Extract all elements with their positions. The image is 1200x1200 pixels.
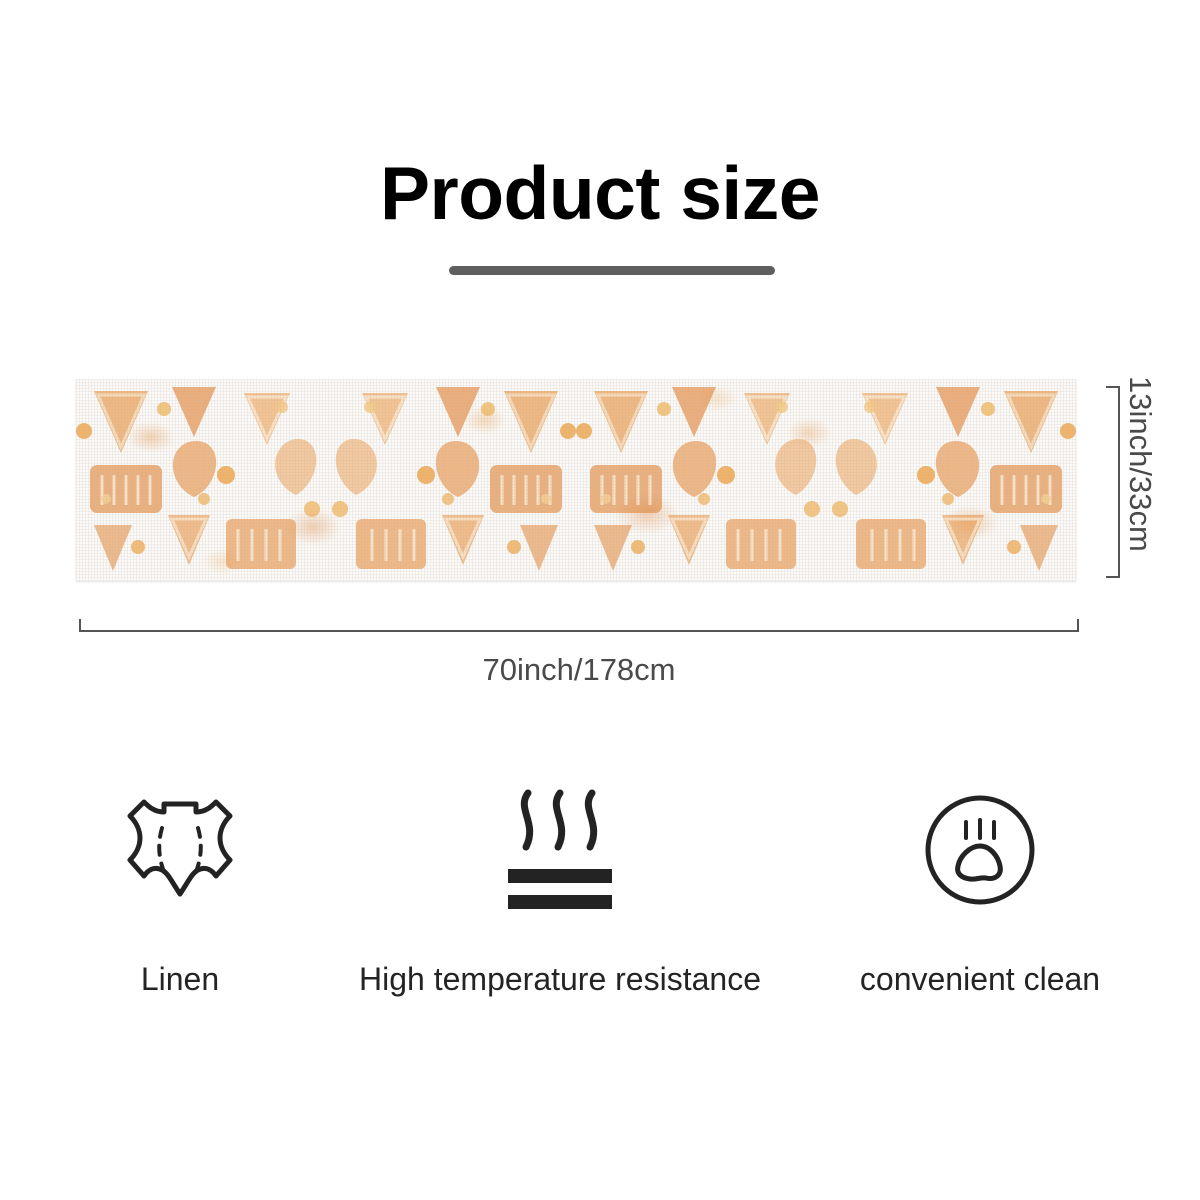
feature-label-heat: High temperature resistance (359, 961, 761, 998)
feature-label-linen: Linen (141, 961, 219, 998)
page-title: Product size (0, 148, 1200, 238)
width-dimension-label: 70inch/178cm (79, 652, 1079, 688)
product-figure (76, 379, 1076, 581)
pattern-tile (826, 379, 1076, 581)
pattern-tile (576, 379, 826, 581)
feature-heat: High temperature resistance (320, 775, 800, 998)
leather-hide-icon (120, 775, 240, 925)
wash-circle-icon (920, 775, 1040, 925)
pattern-motifs (76, 379, 1076, 581)
width-dimension-bracket (79, 618, 1079, 632)
pattern-tile (76, 379, 326, 581)
heat-waves-icon (500, 775, 620, 925)
feature-clean: convenient clean (800, 775, 1160, 998)
feature-label-clean: convenient clean (860, 961, 1100, 998)
feature-linen: Linen (40, 775, 320, 998)
product-size-infographic: Product size (0, 0, 1200, 1200)
product-image (76, 379, 1076, 581)
height-dimension-bracket (1104, 386, 1120, 578)
bracket-tick-right (1077, 619, 1079, 632)
pattern-tile (326, 379, 576, 581)
bracket-spine (79, 630, 1079, 632)
title-underline-bar (449, 266, 775, 275)
bracket-tick-bottom (1106, 576, 1120, 578)
height-dimension-label: 13inch/33cm (1120, 376, 1160, 566)
feature-row: Linen High temperature resistance (40, 775, 1160, 1025)
title-block: Product size (0, 148, 1200, 238)
